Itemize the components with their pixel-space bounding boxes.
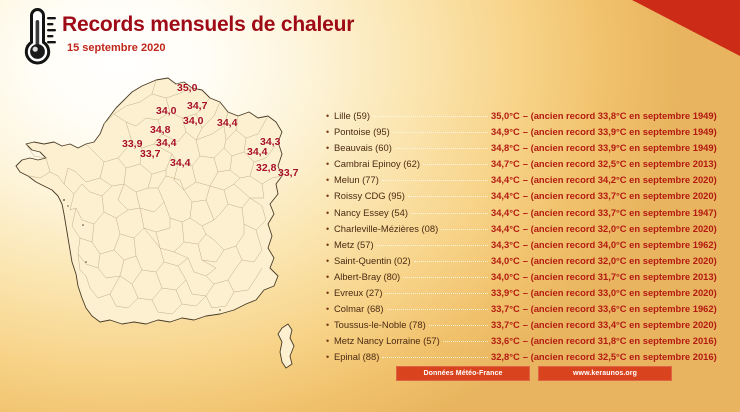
- record-station: Saint-Quentin (02): [334, 253, 411, 269]
- leader-dots: [408, 196, 488, 197]
- bullet-icon: •: [326, 172, 334, 188]
- record-value: 34,9°C: [491, 124, 520, 140]
- records-list: • Lille (59) 35,0°C – (ancien record 33,…: [326, 108, 730, 366]
- list-item: • Charleville-Mézières (08) 34,4°C – (an…: [326, 221, 730, 237]
- list-item: • Roissy CDG (95) 34,4°C – (ancien recor…: [326, 188, 730, 204]
- leader-dots: [411, 213, 488, 214]
- infographic-canvas: Records mensuels de chaleur 15 septembre…: [0, 0, 740, 412]
- bullet-icon: •: [326, 237, 334, 253]
- list-item: • Beauvais (60) 34,8°C – (ancien record …: [326, 140, 730, 156]
- bullet-icon: •: [326, 221, 334, 237]
- record-previous: – (ancien record 32,5°C en septembre 201…: [523, 156, 717, 172]
- page-title: Records mensuels de chaleur: [62, 14, 354, 36]
- list-item: • Albert-Bray (80) 34,0°C – (ancien reco…: [326, 269, 730, 285]
- record-station: Epinal (88): [334, 349, 379, 365]
- record-previous: – (ancien record 31,7°C en septembre 201…: [523, 269, 717, 285]
- record-previous: – (ancien record 33,9°C en septembre 194…: [523, 140, 717, 156]
- record-previous: – (ancien record 34,0°C en septembre 196…: [523, 237, 717, 253]
- website-banner[interactable]: www.keraunos.org: [538, 366, 672, 381]
- leader-dots: [429, 325, 488, 326]
- record-value: 34,4°C: [491, 172, 520, 188]
- record-station: Lille (59): [334, 108, 370, 124]
- map-label-temp: 34,8: [150, 124, 170, 136]
- bullet-icon: •: [326, 140, 334, 156]
- list-item: • Colmar (68) 33,7°C – (ancien record 33…: [326, 301, 730, 317]
- map-label-temp: 34,4: [217, 117, 237, 129]
- bullet-icon: •: [326, 301, 334, 317]
- map-label-temp: 33,7: [140, 148, 160, 160]
- record-station: Evreux (27): [334, 285, 382, 301]
- record-value: 33,6°C: [491, 333, 520, 349]
- list-item: • Metz (57) 34,3°C – (ancien record 34,0…: [326, 237, 730, 253]
- list-item: • Lille (59) 35,0°C – (ancien record 33,…: [326, 108, 730, 124]
- corner-decoration-triangle: [632, 0, 740, 56]
- list-item: • Toussus-le-Noble (78) 33,7°C – (ancien…: [326, 317, 730, 333]
- map-label-temp: 34,0: [183, 115, 203, 127]
- bullet-icon: •: [326, 188, 334, 204]
- map-label-temp: 34,7: [187, 100, 207, 112]
- list-item: • Metz Nancy Lorraine (57) 33,6°C – (anc…: [326, 333, 730, 349]
- leader-dots: [395, 148, 488, 149]
- record-station: Cambrai Epinoy (62): [334, 156, 420, 172]
- record-station: Albert-Bray (80): [334, 269, 400, 285]
- leader-dots: [423, 164, 488, 165]
- leader-dots: [382, 180, 488, 181]
- record-value: 34,7°C: [491, 156, 520, 172]
- bullet-icon: •: [326, 156, 334, 172]
- record-previous: – (ancien record 32,5°C en septembre 201…: [523, 349, 717, 365]
- list-item: • Pontoise (95) 34,9°C – (ancien record …: [326, 124, 730, 140]
- list-item: • Melun (77) 34,4°C – (ancien record 34,…: [326, 172, 730, 188]
- header-text-block: Records mensuels de chaleur 15 septembre…: [62, 8, 354, 54]
- leader-dots: [414, 261, 488, 262]
- leader-dots: [385, 293, 488, 294]
- france-map: 35,0 34,0 34,7 34,0 34,4 34,8 33,9 34,4 …: [6, 72, 316, 374]
- list-item: • Cambrai Epinoy (62) 34,7°C – (ancien r…: [326, 156, 730, 172]
- leader-dots: [443, 341, 488, 342]
- record-value: 32,8°C: [491, 349, 520, 365]
- record-previous: – (ancien record 33,7°C en septembre 202…: [523, 188, 717, 204]
- record-station: Metz (57): [334, 237, 374, 253]
- record-previous: – (ancien record 32,0°C en septembre 202…: [523, 253, 717, 269]
- record-value: 34,8°C: [491, 140, 520, 156]
- map-label-temp: 35,0: [177, 82, 197, 94]
- bullet-icon: •: [326, 108, 334, 124]
- footer-banners: Données Météo-France www.keraunos.org: [396, 366, 672, 381]
- map-label-temp: 34,0: [156, 105, 176, 117]
- record-value: 34,4°C: [491, 221, 520, 237]
- record-previous: – (ancien record 33,4°C en septembre 202…: [523, 317, 717, 333]
- record-previous: – (ancien record 33,7°C en septembre 194…: [523, 205, 717, 221]
- record-value: 34,4°C: [491, 188, 520, 204]
- leader-dots: [403, 277, 488, 278]
- map-label-temp: 33,7: [278, 167, 298, 179]
- data-source-banner: Données Météo-France: [396, 366, 530, 381]
- leader-dots: [441, 229, 488, 230]
- map-label-temp: 34,4: [247, 146, 267, 158]
- bullet-icon: •: [326, 317, 334, 333]
- record-station: Charleville-Mézières (08): [334, 221, 438, 237]
- header: Records mensuels de chaleur 15 septembre…: [14, 8, 354, 66]
- record-value: 35,0°C: [491, 108, 520, 124]
- map-temperature-labels: 35,0 34,0 34,7 34,0 34,4 34,8 33,9 34,4 …: [6, 72, 316, 374]
- leader-dots: [382, 357, 488, 358]
- bullet-icon: •: [326, 333, 334, 349]
- bullet-icon: •: [326, 253, 334, 269]
- bullet-icon: •: [326, 205, 334, 221]
- record-value: 34,4°C: [491, 205, 520, 221]
- record-station: Beauvais (60): [334, 140, 392, 156]
- page-date: 15 septembre 2020: [67, 42, 354, 54]
- record-value: 33,7°C: [491, 317, 520, 333]
- bullet-icon: •: [326, 124, 334, 140]
- record-previous: – (ancien record 33,8°C en septembre 194…: [523, 108, 717, 124]
- record-previous: – (ancien record 34,2°C en septembre 202…: [523, 172, 717, 188]
- record-station: Melun (77): [334, 172, 379, 188]
- record-previous: – (ancien record 31,8°C en septembre 201…: [523, 333, 717, 349]
- record-station: Colmar (68): [334, 301, 384, 317]
- record-previous: – (ancien record 33,0°C en septembre 202…: [523, 285, 717, 301]
- record-previous: – (ancien record 32,0°C en septembre 202…: [523, 221, 717, 237]
- thermometer-icon: [14, 8, 58, 66]
- list-item: • Epinal (88) 32,8°C – (ancien record 32…: [326, 349, 730, 365]
- list-item: • Nancy Essey (54) 34,4°C – (ancien reco…: [326, 205, 730, 221]
- record-value: 34,3°C: [491, 237, 520, 253]
- leader-dots: [377, 245, 488, 246]
- bullet-icon: •: [326, 285, 334, 301]
- list-item: • Saint-Quentin (02) 34,0°C – (ancien re…: [326, 253, 730, 269]
- list-item: • Evreux (27) 33,9°C – (ancien record 33…: [326, 285, 730, 301]
- record-value: 34,0°C: [491, 253, 520, 269]
- record-previous: – (ancien record 33,9°C en septembre 194…: [523, 124, 717, 140]
- bullet-icon: •: [326, 269, 334, 285]
- record-value: 33,9°C: [491, 285, 520, 301]
- leader-dots: [393, 132, 488, 133]
- record-station: Metz Nancy Lorraine (57): [334, 333, 440, 349]
- map-label-temp: 34,4: [170, 157, 190, 169]
- record-station: Toussus-le-Noble (78): [334, 317, 426, 333]
- record-station: Roissy CDG (95): [334, 188, 405, 204]
- leader-dots: [373, 116, 488, 117]
- bullet-icon: •: [326, 349, 334, 365]
- record-value: 33,7°C: [491, 301, 520, 317]
- leader-dots: [387, 309, 489, 310]
- record-value: 34,0°C: [491, 269, 520, 285]
- record-station: Nancy Essey (54): [334, 205, 408, 221]
- map-label-temp: 32,8: [256, 162, 276, 174]
- record-previous: – (ancien record 33,6°C en septembre 196…: [523, 301, 717, 317]
- record-station: Pontoise (95): [334, 124, 390, 140]
